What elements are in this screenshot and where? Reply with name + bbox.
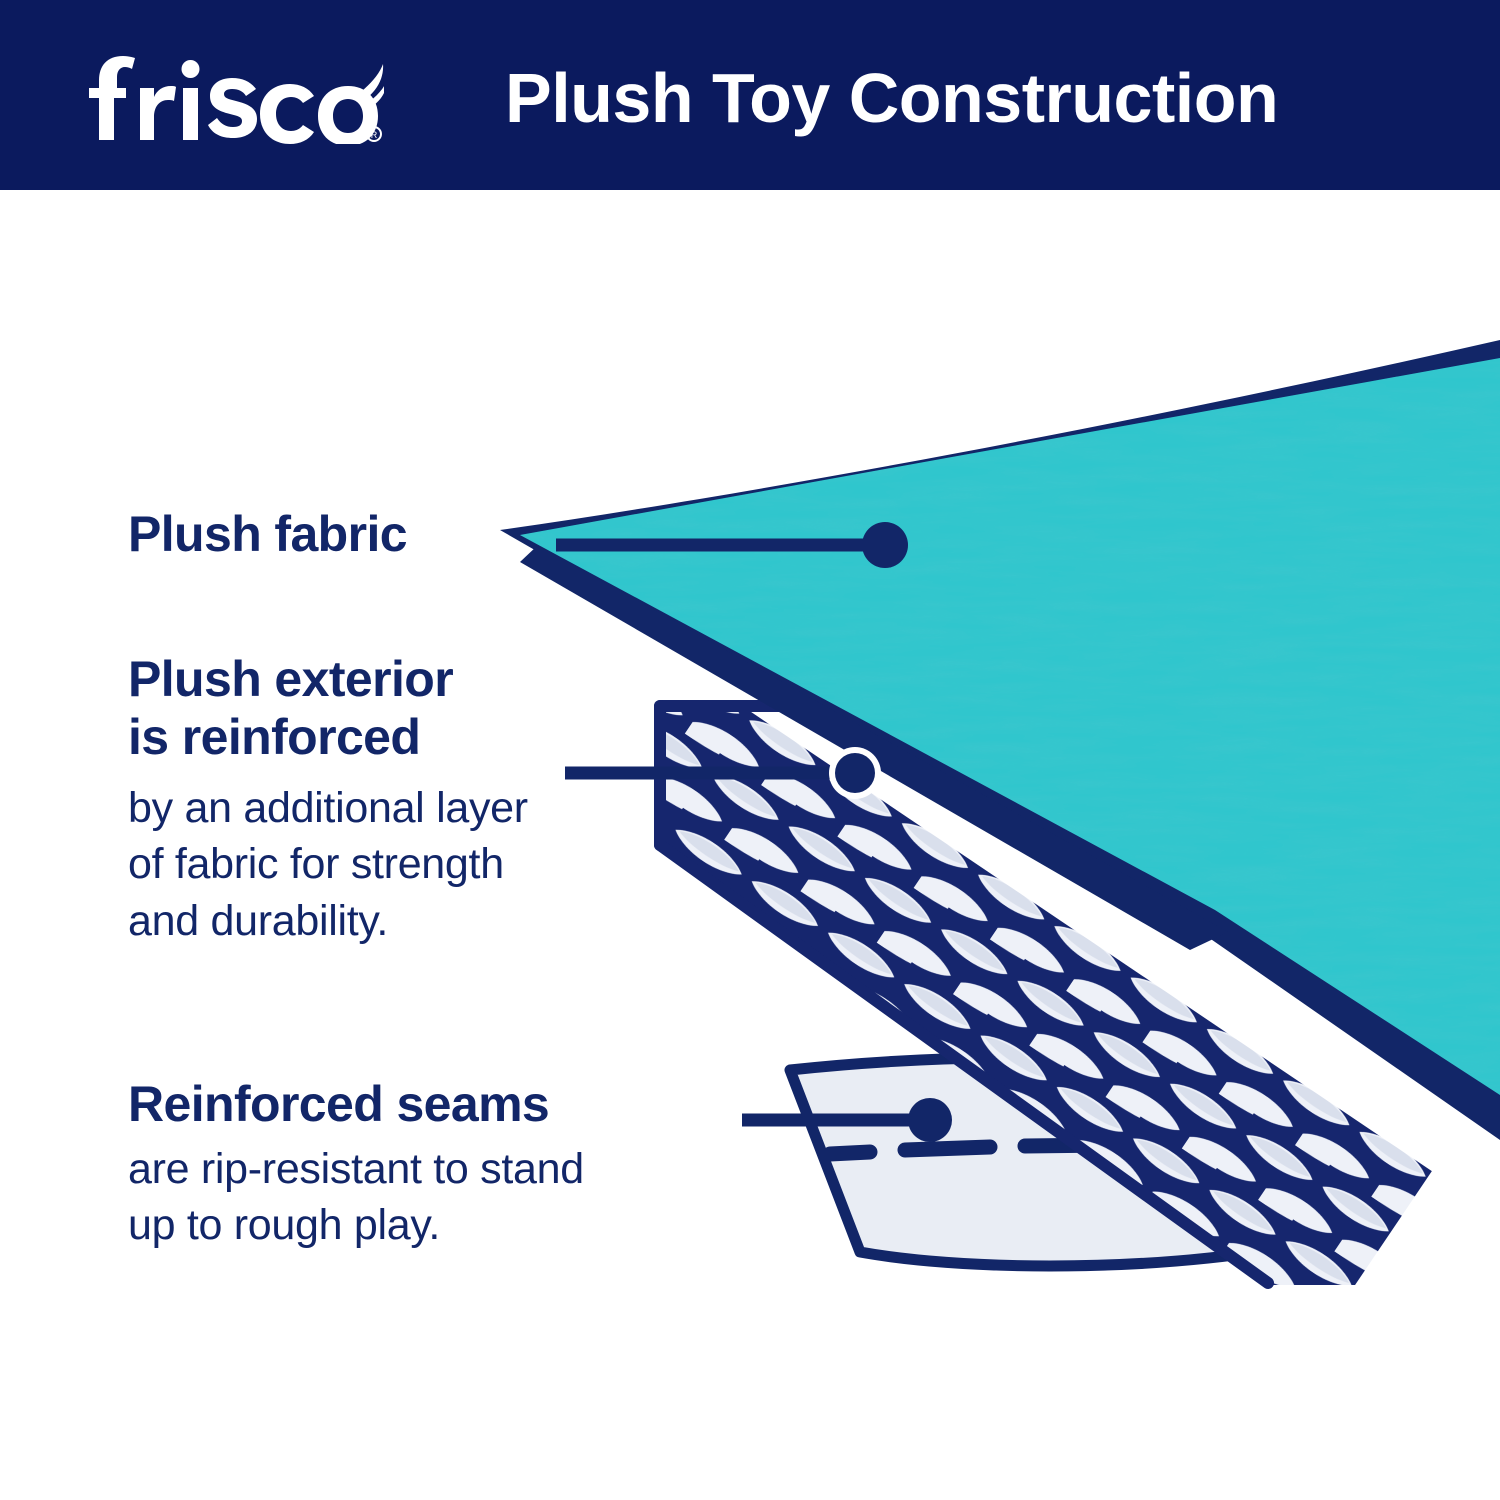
page-title: Plush Toy Construction	[505, 50, 1385, 146]
callout-plush-fabric: Plush fabric	[128, 505, 407, 563]
svg-text:R: R	[371, 130, 378, 140]
header-bar: R Plush Toy Construction	[0, 0, 1500, 190]
callout-plush-exterior: Plush exterior is reinforced by an addit…	[128, 650, 528, 949]
callout-reinforced-seams: Reinforced seams are rip-resistant to st…	[128, 1075, 584, 1254]
callout-dot-plush-fabric	[862, 522, 908, 568]
frisco-logo: R	[84, 48, 384, 144]
callout-dot-reinforced-seams	[908, 1098, 952, 1142]
infographic-page: R Plush Toy Construction	[0, 0, 1500, 1500]
callout-body-reinforced-seams: are rip-resistant to stand up to rough p…	[128, 1141, 584, 1254]
callout-title-plush-fabric: Plush fabric	[128, 505, 407, 563]
callout-title-reinforced-seams: Reinforced seams	[128, 1075, 584, 1133]
callout-dot-plush-exterior	[835, 753, 875, 793]
callout-title-plush-exterior: Plush exterior is reinforced	[128, 650, 528, 766]
callout-body-plush-exterior: by an additional layer of fabric for str…	[128, 780, 528, 949]
